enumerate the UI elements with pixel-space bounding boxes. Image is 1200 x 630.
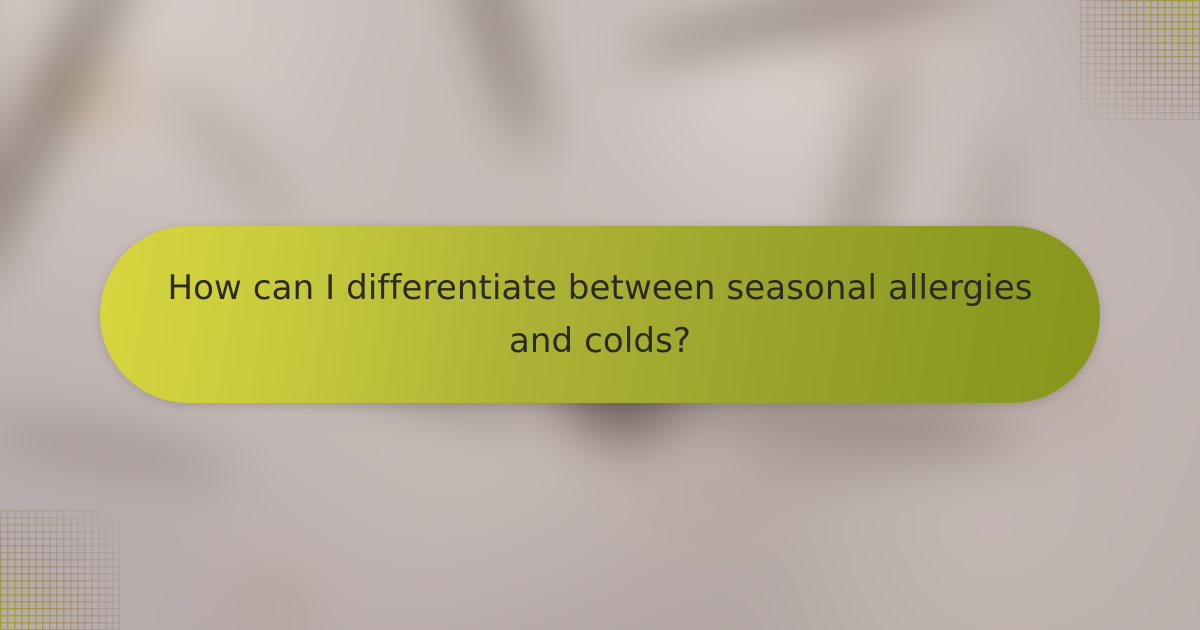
question-banner: How can I differentiate between seasonal… bbox=[100, 226, 1100, 403]
bottom-left-dot-grid-accent bbox=[0, 510, 120, 630]
top-right-dot-grid-accent bbox=[1080, 0, 1200, 120]
question-text: How can I differentiate between seasonal… bbox=[160, 262, 1040, 367]
social-card: How can I differentiate between seasonal… bbox=[0, 0, 1200, 630]
